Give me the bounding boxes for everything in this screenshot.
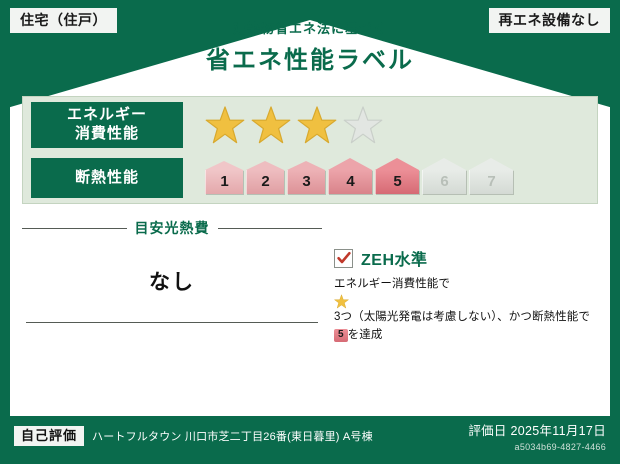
energy-label-line2: 消費性能 bbox=[75, 125, 139, 142]
insulation-grade-2: 2 bbox=[246, 161, 284, 198]
lower-section: 目安光熱費 なし ZEH水準 エネルギー消費性能で3つ（太陽光発電は考慮しな bbox=[22, 218, 598, 344]
property-name: ハートフルタウン 川口市芝二丁目26番(東日暮里) A号棟 bbox=[92, 428, 373, 444]
insulation-grade-7: 7 bbox=[469, 158, 513, 198]
zeh-desc-part2: 3つ（太陽光発電は考慮しない）、かつ断熱性能で bbox=[334, 311, 590, 323]
star-filled-icon bbox=[251, 105, 291, 145]
insulation-performance-value: 1234567 bbox=[183, 153, 597, 203]
grade-roof-icon bbox=[422, 158, 466, 170]
zeh-heading: ZEH水準 bbox=[334, 246, 598, 270]
performance-block: エネルギー 消費性能 断熱性能 1234567 bbox=[22, 96, 598, 204]
utility-cost-section: 目安光熱費 なし bbox=[22, 218, 322, 344]
zeh-section: ZEH水準 エネルギー消費性能で3つ（太陽光発電は考慮しない）、かつ断熱性能で5… bbox=[322, 218, 598, 344]
energy-label-line1: エネルギー bbox=[67, 106, 147, 123]
row-energy-performance: エネルギー 消費性能 bbox=[23, 97, 597, 153]
zeh-title: ZEH水準 bbox=[361, 246, 428, 270]
tag-renewable-energy: 再エネ設備なし bbox=[489, 8, 611, 33]
insulation-grade-6: 6 bbox=[422, 158, 466, 198]
grade-value: 3 bbox=[287, 170, 325, 194]
star-empty-icon bbox=[343, 105, 383, 145]
grade-roof-icon bbox=[205, 161, 243, 170]
evaluation-date: 評価日 2025年11月17日 bbox=[468, 420, 606, 439]
zeh-desc-grade-badge: 5 bbox=[334, 329, 348, 342]
insulation-grade-4: 4 bbox=[328, 158, 372, 198]
insulation-performance-label: 断熱性能 bbox=[31, 158, 183, 198]
insulation-grade-scale: 1234567 bbox=[205, 158, 513, 198]
star-rating bbox=[205, 105, 383, 145]
tag-building-type: 住宅（住戸） bbox=[10, 8, 117, 33]
grade-roof-icon bbox=[328, 158, 372, 170]
star-filled-icon bbox=[205, 105, 245, 145]
utility-cost-value: なし bbox=[22, 238, 322, 322]
label-footer: 自己評価 ハートフルタウン 川口市芝二丁目26番(東日暮里) A号棟 評価日 2… bbox=[14, 418, 606, 456]
grade-value: 1 bbox=[205, 170, 243, 194]
grade-roof-icon bbox=[375, 158, 419, 170]
reference-id: a5034b69-4827-4466 bbox=[468, 442, 606, 452]
energy-performance-label: 住宅（住戸） 再エネ設備なし 建築物省エネ法に基づく 省エネ性能ラベル エネルギ… bbox=[0, 0, 620, 464]
check-icon bbox=[337, 251, 351, 265]
grade-value: 4 bbox=[328, 170, 372, 194]
footer-left: 自己評価 ハートフルタウン 川口市芝二丁目26番(東日暮里) A号棟 bbox=[14, 426, 373, 446]
grade-roof-icon bbox=[469, 158, 513, 170]
grade-value: 2 bbox=[246, 170, 284, 194]
heading-rule-right bbox=[218, 228, 323, 229]
star-inline-icon bbox=[334, 294, 349, 309]
self-evaluation-badge: 自己評価 bbox=[14, 426, 84, 446]
grade-roof-icon bbox=[287, 161, 325, 170]
utility-cost-heading: 目安光熱費 bbox=[22, 218, 322, 238]
zeh-desc-part3: を達成 bbox=[348, 329, 383, 341]
grade-value: 7 bbox=[469, 170, 513, 194]
heading-rule-left bbox=[22, 228, 127, 229]
zeh-checkbox[interactable] bbox=[334, 249, 353, 268]
energy-performance-value bbox=[183, 97, 597, 153]
grade-value: 6 bbox=[422, 170, 466, 194]
energy-performance-label: エネルギー 消費性能 bbox=[31, 102, 183, 148]
row-insulation-performance: 断熱性能 1234567 bbox=[23, 153, 597, 203]
utility-cost-label: 目安光熱費 bbox=[135, 218, 210, 238]
insulation-grade-5: 5 bbox=[375, 158, 419, 198]
utility-cost-divider bbox=[26, 322, 318, 323]
insulation-grade-1: 1 bbox=[205, 161, 243, 198]
zeh-description: エネルギー消費性能で3つ（太陽光発電は考慮しない）、かつ断熱性能で5を達成 bbox=[334, 276, 598, 344]
insulation-grade-3: 3 bbox=[287, 161, 325, 198]
label-content: エネルギー 消費性能 断熱性能 1234567 目安光熱費 bbox=[22, 96, 598, 406]
grade-roof-icon bbox=[246, 161, 284, 170]
star-filled-icon bbox=[297, 105, 337, 145]
grade-value: 5 bbox=[375, 170, 419, 194]
footer-right: 評価日 2025年11月17日 a5034b69-4827-4466 bbox=[468, 420, 606, 452]
zeh-desc-part1: エネルギー消費性能で bbox=[334, 278, 450, 290]
